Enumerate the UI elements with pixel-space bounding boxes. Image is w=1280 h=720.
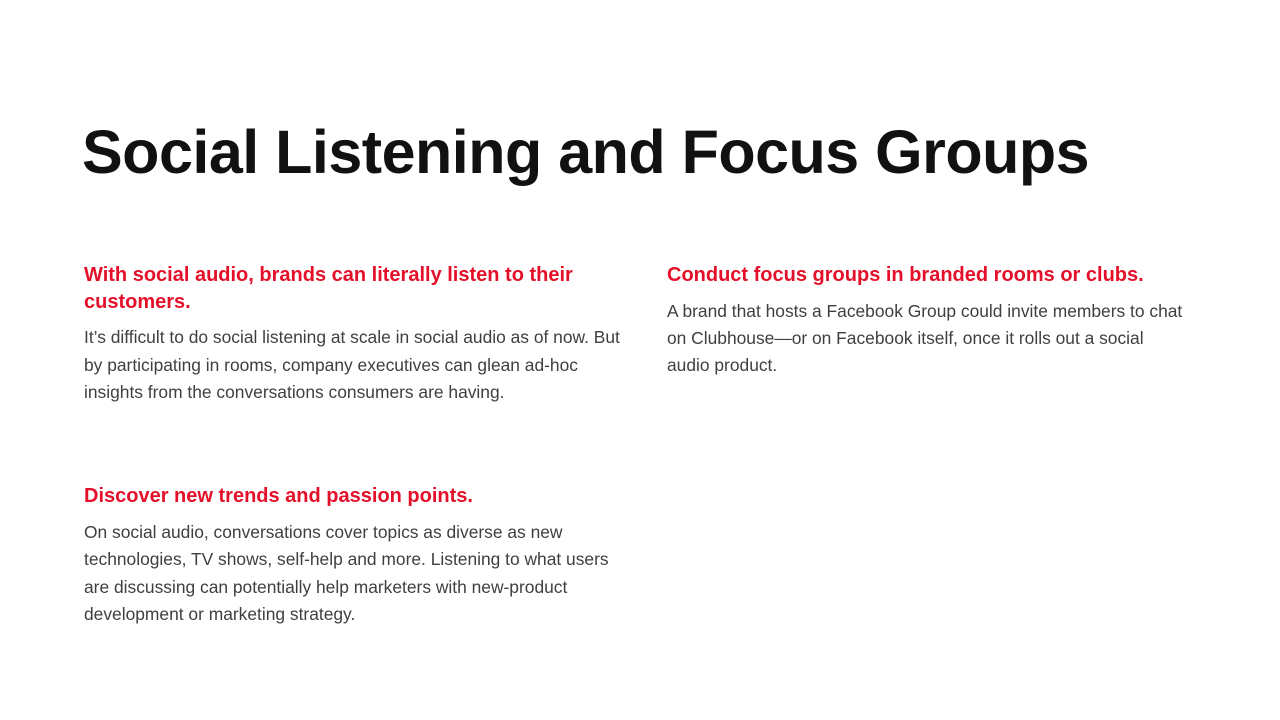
content-block-1-body: It’s difficult to do social listening at… (84, 324, 622, 406)
content-block-2-heading: Conduct focus groups in branded rooms or… (667, 262, 1187, 289)
content-block-4-placeholder (667, 483, 1196, 628)
page-title: Social Listening and Focus Groups (82, 120, 1202, 184)
content-block-1: With social audio, brands can literally … (84, 262, 667, 406)
slide-canvas: Social Listening and Focus Groups With s… (0, 0, 1280, 720)
content-block-2: Conduct focus groups in branded rooms or… (667, 262, 1196, 406)
content-grid: With social audio, brands can literally … (84, 262, 1196, 629)
content-block-3: Discover new trends and passion points. … (84, 483, 667, 628)
content-block-2-body: A brand that hosts a Facebook Group coul… (667, 298, 1187, 380)
content-block-3-heading: Discover new trends and passion points. (84, 483, 622, 510)
content-block-1-heading: With social audio, brands can literally … (84, 262, 622, 315)
content-block-3-body: On social audio, conversations cover top… (84, 519, 622, 629)
